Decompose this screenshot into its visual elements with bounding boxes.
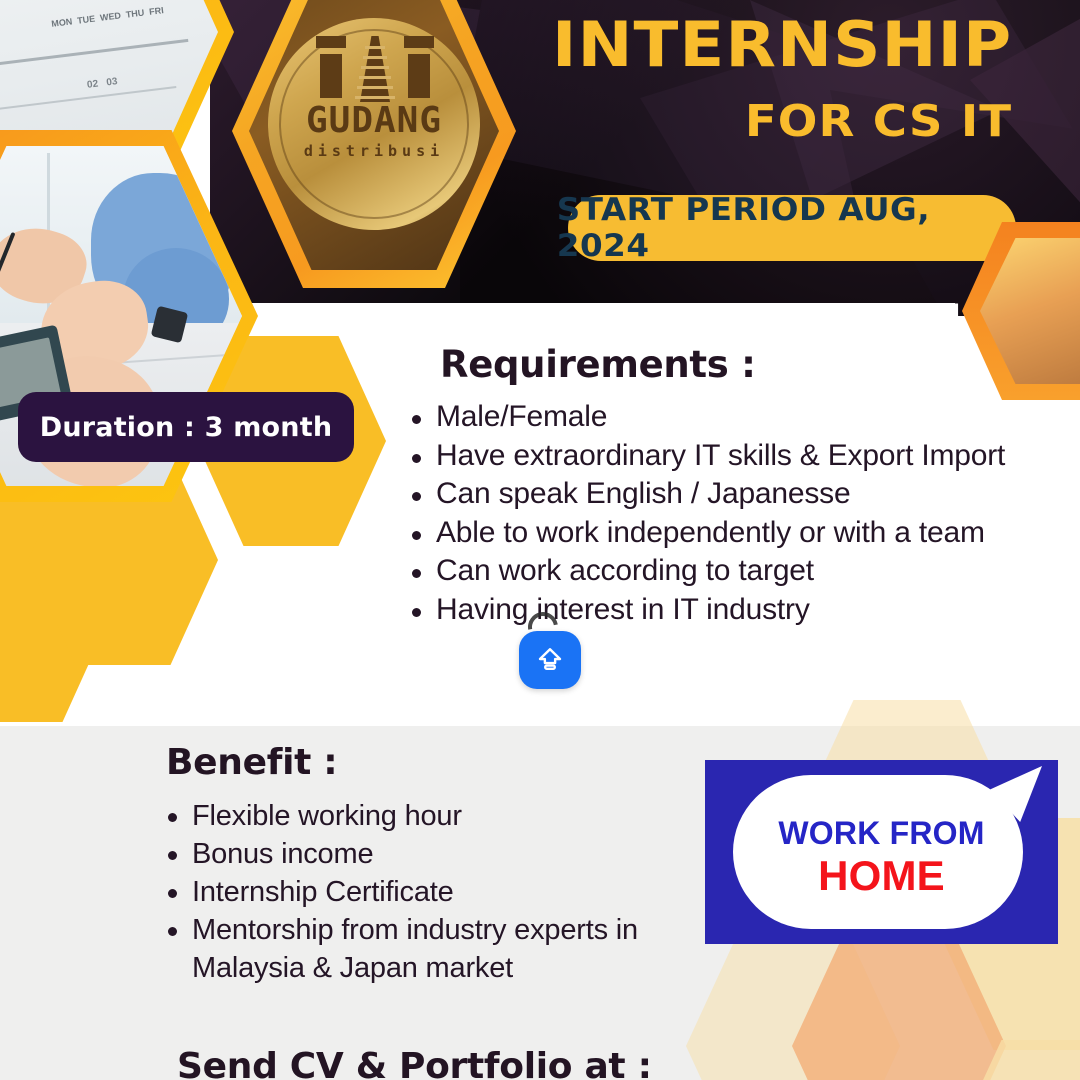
duration-badge: Duration : 3 month	[18, 392, 354, 462]
list-item: Flexible working hour	[162, 797, 722, 835]
internship-poster: INTERNSHIP FOR CS IT START PERIOD AUG, 2…	[0, 0, 1080, 1080]
header-bottom-notch	[210, 303, 955, 317]
wfh-line-two: HOME	[705, 852, 1058, 900]
start-period-label: START PERIOD AUG, 2024	[557, 192, 1027, 264]
benefit-heading: Benefit :	[166, 742, 337, 783]
benefit-list: Flexible working hour Bonus income Inter…	[162, 797, 722, 987]
railway-track-icon	[316, 36, 434, 102]
list-item: Have extraordinary IT skills & Export Im…	[406, 437, 1056, 476]
list-item: Able to work independently or with a tea…	[406, 514, 1056, 553]
requirements-heading: Requirements :	[440, 343, 756, 386]
list-item: Mentorship from industry experts in Mala…	[162, 911, 722, 987]
upload-arrow-icon	[535, 645, 565, 675]
logo-name: GUDANG	[268, 100, 480, 141]
start-period-badge: START PERIOD AUG, 2024	[568, 195, 1016, 261]
list-item: Internship Certificate	[162, 873, 722, 911]
send-cv-heading: Send CV & Portfolio at :	[177, 1046, 652, 1080]
list-item: Bonus income	[162, 835, 722, 873]
requirements-list: Male/Female Have extraordinary IT skills…	[406, 398, 1056, 629]
list-item: Can work according to target	[406, 552, 1056, 591]
wfh-line-one: WORK FROM	[705, 815, 1058, 852]
page-title: INTERNSHIP	[552, 14, 1012, 76]
page-subtitle: FOR CS IT	[745, 100, 1012, 144]
logo-tagline: distribusi	[268, 142, 480, 160]
list-item: Male/Female	[406, 398, 1056, 437]
duration-label: Duration : 3 month	[40, 412, 333, 443]
list-item: Having interest in IT industry	[406, 591, 1056, 630]
upload-button[interactable]	[519, 631, 581, 689]
list-item: Can speak English / Japanesse	[406, 475, 1056, 514]
